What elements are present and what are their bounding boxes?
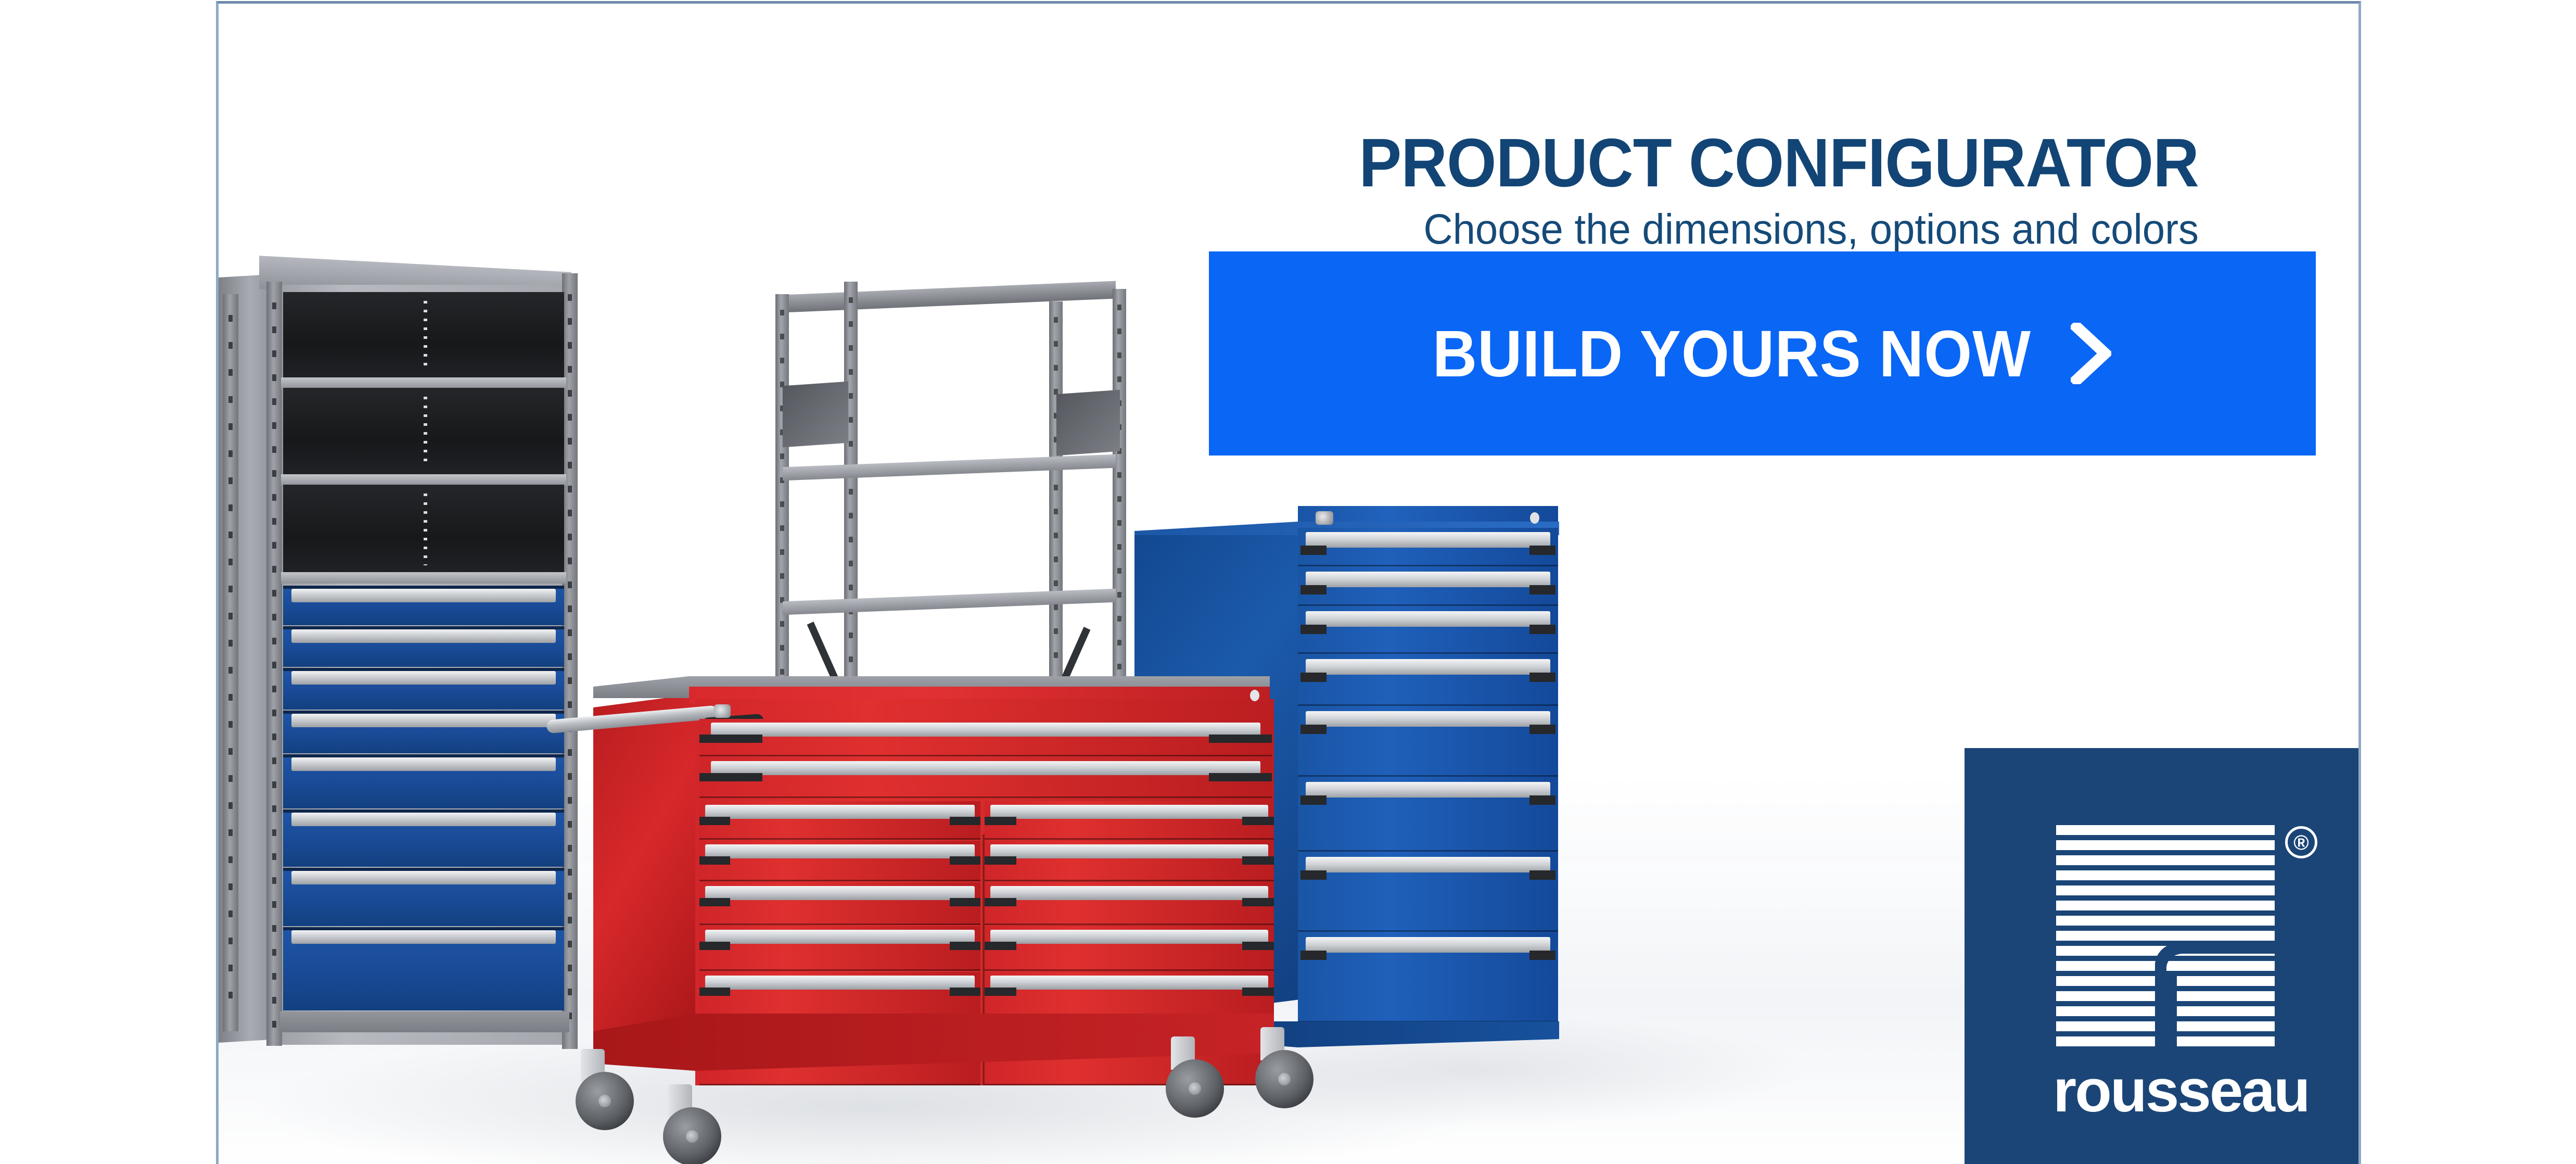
drawer[interactable]: [1298, 567, 1558, 606]
drawer[interactable]: [283, 927, 564, 1010]
drawer[interactable]: [283, 868, 564, 926]
product-closed-shelving: [219, 264, 656, 1076]
drawer[interactable]: [1298, 707, 1558, 777]
build-yours-now-button[interactable]: BUILD YOURS NOW: [1209, 251, 2316, 456]
cart-side-panel: [593, 693, 704, 1036]
shelving-bay: [283, 485, 564, 574]
chevron-right-icon: [2071, 323, 2111, 384]
shelf-bar: [281, 377, 566, 389]
drawer[interactable]: [985, 801, 1274, 840]
drawer[interactable]: [1298, 853, 1558, 932]
promo-banner: PRODUCT CONFIGURATOR Choose the dimensio…: [216, 1, 2361, 1164]
drawer[interactable]: [1298, 607, 1558, 654]
shelving-bay: [283, 388, 564, 476]
drawer[interactable]: [283, 626, 564, 667]
drawer[interactable]: [283, 711, 564, 753]
shelving-foot: [280, 1011, 569, 1032]
rack-shelf: [783, 589, 1116, 615]
shelving-post-left-outer: [223, 294, 238, 1031]
drawer[interactable]: [1298, 655, 1558, 706]
shelving-post-right: [562, 273, 578, 1049]
drawer[interactable]: [699, 841, 980, 881]
cta-label: BUILD YOURS NOW: [1432, 316, 2031, 391]
drawer[interactable]: [1298, 528, 1558, 566]
page-title: PRODUCT CONFIGURATOR: [1279, 129, 2199, 197]
rack-end-panel: [1056, 390, 1120, 456]
drawer[interactable]: [1298, 933, 1558, 1022]
product-mobile-cart: [593, 649, 1332, 1164]
drawer[interactable]: [1298, 778, 1558, 852]
drawer[interactable]: [283, 668, 564, 710]
shelf-bar: [281, 572, 566, 584]
cart-lock-icon[interactable]: [714, 704, 731, 718]
drawer[interactable]: [985, 972, 1274, 1019]
drawer[interactable]: [283, 754, 564, 808]
cabinet-hole: [1530, 512, 1539, 524]
drawer[interactable]: [699, 757, 1272, 798]
cart-hole: [1250, 690, 1259, 701]
registered-trademark-icon: ®: [2285, 826, 2317, 858]
drawer[interactable]: [985, 882, 1274, 925]
cabinet-lock-icon[interactable]: [1316, 511, 1333, 525]
shelving-post-left: [266, 282, 282, 1046]
rack-top-shelf: [783, 281, 1116, 313]
drawer[interactable]: [985, 926, 1274, 971]
drawer[interactable]: [283, 809, 564, 867]
drawer[interactable]: [699, 801, 980, 840]
rousseau-wordmark: rousseau: [2053, 1060, 2292, 1121]
rack-end-panel: [783, 382, 848, 448]
drawer[interactable]: [283, 586, 564, 625]
drawer[interactable]: [699, 719, 1272, 756]
drawer[interactable]: [699, 882, 980, 925]
headline-block: PRODUCT CONFIGURATOR Choose the dimensio…: [1210, 129, 2199, 254]
shelving-bay: [283, 292, 564, 379]
drawer[interactable]: [699, 972, 980, 1019]
rousseau-logo-panel: ® rousseau: [1965, 748, 2361, 1164]
page-subtitle: Choose the dimensions, options and color…: [1259, 206, 2199, 254]
shelf-bar: [281, 474, 566, 486]
rack-shelf: [783, 454, 1116, 481]
drawer[interactable]: [985, 841, 1274, 881]
drawer[interactable]: [699, 926, 980, 971]
rousseau-r-stripes-mark: [2056, 825, 2275, 1049]
